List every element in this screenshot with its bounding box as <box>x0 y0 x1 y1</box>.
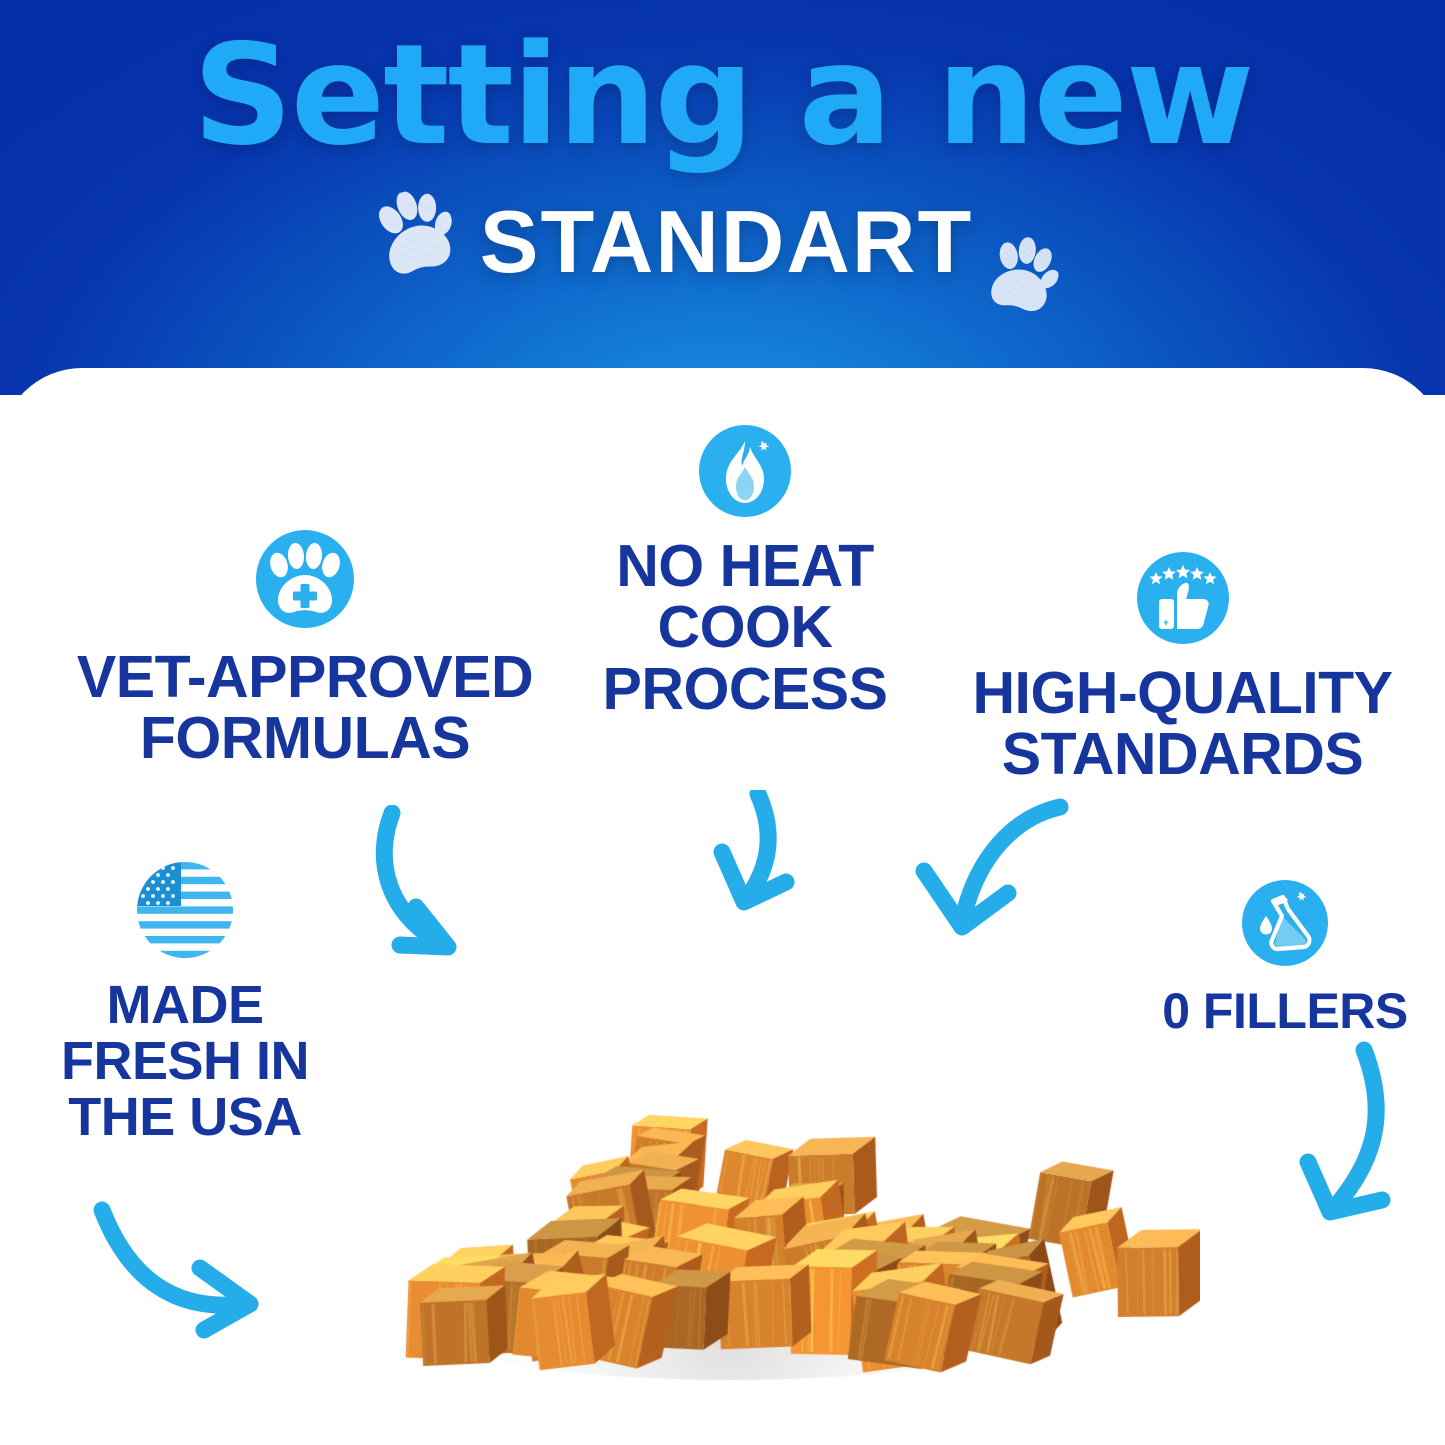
feature-label: NO HEAT COOK PROCESS <box>545 536 945 720</box>
header-subheadline: STANDART <box>480 198 973 286</box>
paw-print-icon <box>981 231 1065 326</box>
header-banner: Setting a new STANDART <box>0 0 1445 395</box>
feature-zero-fillers: 0 FILLERS <box>1130 880 1440 1037</box>
no-flask-icon <box>1130 880 1440 971</box>
curved-arrow-down-left-icon <box>1292 1040 1442 1240</box>
product-image <box>300 960 1200 1390</box>
feature-high-quality: HIGH-QUALITY STANDARDS <box>930 552 1435 786</box>
feature-vet-approved: VET-APPROVED FORMULAS <box>60 530 550 770</box>
header-headline: Setting a new <box>0 26 1445 165</box>
no-flame-icon <box>545 425 945 522</box>
curved-arrow-down-icon <box>700 790 820 925</box>
feature-label: HIGH-QUALITY STANDARDS <box>930 663 1435 786</box>
curved-arrow-down-left-icon <box>912 795 1072 950</box>
promo-image: Setting a new STANDART <box>0 0 1445 1445</box>
feature-made-in-usa: MADE FRESH IN THE USA <box>20 862 350 1145</box>
thumbs-up-five-stars-icon <box>930 552 1435 649</box>
feature-no-heat: NO HEAT COOK PROCESS <box>545 425 945 720</box>
paw-with-medical-cross-icon <box>60 530 550 633</box>
usa-flag-circle-icon <box>20 862 350 963</box>
curved-arrow-down-right-icon <box>352 805 512 975</box>
feature-label: 0 FILLERS <box>1130 985 1440 1037</box>
header-subline-row: STANDART <box>0 196 1445 287</box>
feature-label: MADE FRESH IN THE USA <box>20 977 350 1145</box>
paw-print-icon <box>368 182 464 289</box>
curved-arrow-right-icon <box>88 1196 273 1351</box>
feature-label: VET-APPROVED FORMULAS <box>60 647 550 770</box>
